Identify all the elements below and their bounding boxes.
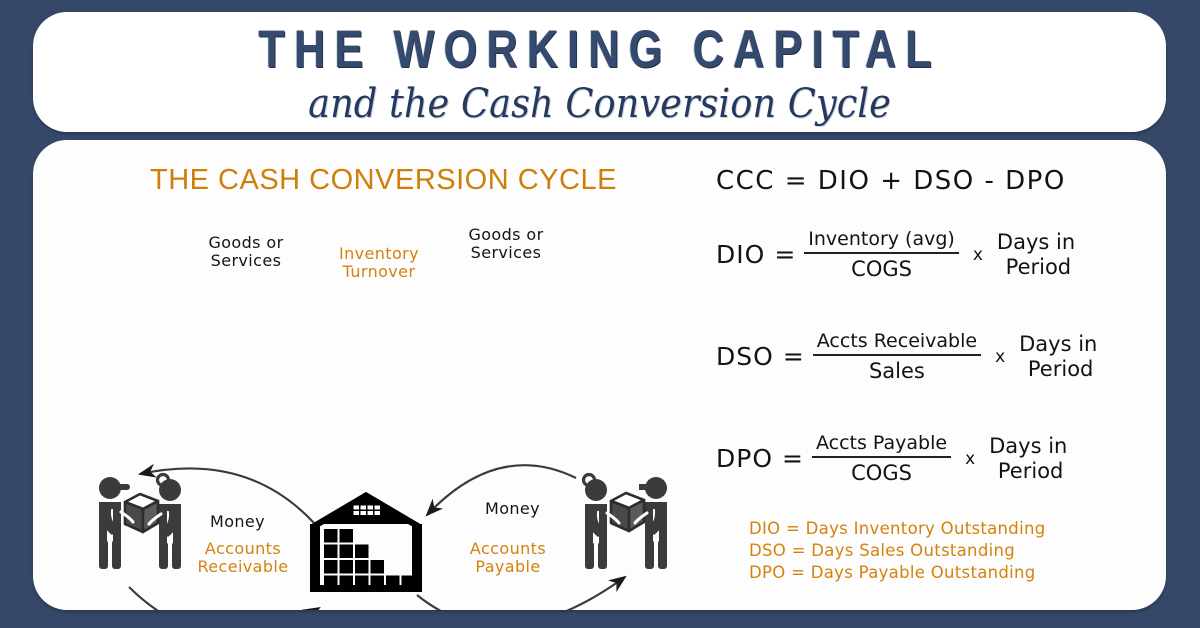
- formula-dio-fraction: Inventory (avg) COGS: [804, 228, 959, 281]
- legend-item-dio: DIO = Days Inventory Outstanding: [749, 518, 1046, 540]
- people-handing-box-icon-right: [584, 475, 668, 570]
- label-money-right: Money: [485, 500, 540, 518]
- formula-dio-multiplier: Days in Period: [997, 230, 1075, 279]
- label-money-left: Money: [210, 513, 265, 531]
- formula-dpo-numerator: Accts Payable: [812, 432, 951, 456]
- label-inventory-turnover: Inventory Turnover: [326, 245, 432, 281]
- formula-row-dio: DIO = Inventory (avg) COGS x Days in Per…: [716, 228, 1075, 281]
- title-card: THE WORKING CAPITAL and the Cash Convers…: [33, 12, 1166, 132]
- formula-dso-times: x: [995, 347, 1005, 367]
- formula-dso-fraction: Accts Receivable Sales: [813, 330, 981, 383]
- cycle-diagram-svg: [33, 140, 713, 610]
- arrow-money-left: [129, 587, 319, 610]
- formula-dio-equals: =: [774, 240, 795, 269]
- content-card: THE CASH CONVERSION CYCLE: [33, 140, 1166, 610]
- formula-dpo-fraction: Accts Payable COGS: [812, 432, 951, 485]
- warehouse-icon: [310, 492, 422, 592]
- formula-dso-label: DSO: [716, 342, 774, 371]
- formula-dpo-times: x: [965, 449, 975, 469]
- formula-dio-times: x: [973, 245, 983, 265]
- formula-row-dpo: DPO = Accts Payable COGS x Days in Perio…: [716, 432, 1067, 485]
- formula-dio-numerator: Inventory (avg): [804, 228, 959, 252]
- formula-dio-label: DIO: [716, 240, 765, 269]
- label-accounts-receivable: Accounts Receivable: [188, 540, 298, 576]
- legend-item-dpo: DPO = Days Payable Outstanding: [749, 562, 1046, 584]
- formula-dpo-equals: =: [782, 444, 803, 473]
- label-goods-services-left: Goods or Services: [198, 234, 294, 270]
- formula-ccc: CCC = DIO + DSO - DPO: [716, 166, 1066, 196]
- label-goods-services-right: Goods or Services: [458, 226, 554, 262]
- people-handing-box-icon-left: [99, 475, 181, 570]
- formula-dpo-multiplier: Days in Period: [989, 434, 1067, 483]
- formula-dso-numerator: Accts Receivable: [813, 330, 981, 354]
- formula-dso-equals: =: [783, 342, 804, 371]
- abbreviation-legend: DIO = Days Inventory Outstanding DSO = D…: [749, 518, 1046, 583]
- page-title: THE WORKING CAPITAL: [135, 22, 1064, 78]
- page-subtitle: and the Cash Conversion Cycle: [78, 82, 1120, 126]
- formula-row-dso: DSO = Accts Receivable Sales x Days in P…: [716, 330, 1097, 383]
- formula-dso-multiplier: Days in Period: [1019, 332, 1097, 381]
- formula-dpo-label: DPO: [716, 444, 773, 473]
- arrow-money-right: [417, 577, 625, 610]
- cash-conversion-cycle-diagram: Goods or Services Inventory Turnover Goo…: [33, 140, 713, 610]
- formula-dio-denominator: COGS: [847, 254, 916, 281]
- legend-item-dso: DSO = Days Sales Outstanding: [749, 540, 1046, 562]
- formula-dpo-denominator: COGS: [847, 458, 916, 485]
- formula-dso-denominator: Sales: [865, 356, 929, 383]
- formula-panel: CCC = DIO + DSO - DPO DIO = Inventory (a…: [673, 140, 1166, 610]
- infographic-canvas: THE WORKING CAPITAL and the Cash Convers…: [0, 0, 1200, 628]
- label-accounts-payable: Accounts Payable: [453, 540, 563, 576]
